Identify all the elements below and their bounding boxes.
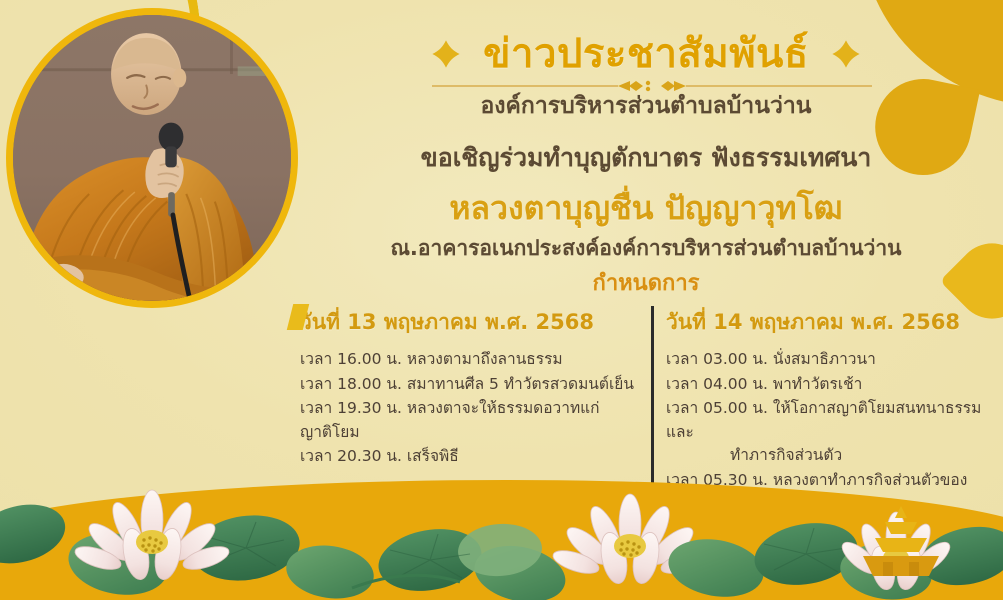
schedule-item-line: เวลา 20.30 น. เสร็จพิธี	[300, 447, 459, 465]
flower-ornament-icon	[829, 37, 863, 71]
schedule-item: เวลา 18.00 น. สมาทานศีล 5 ทำวัตรสวดมนต์เ…	[300, 373, 645, 397]
lotus-foliage-decoration	[0, 468, 1003, 600]
schedule-item-line: เวลา 19.30 น. หลวงตาจะให้ธรรมดอวาทแก่ญาต…	[300, 399, 600, 441]
schedule-item: เวลา 16.00 น. หลวงตามาถึงลานธรรม	[300, 348, 645, 372]
page-title: ข่าวประชาสัมพันธ์	[483, 34, 809, 74]
agenda-label: กำหนดการ	[306, 265, 986, 300]
schedule-item-line: เวลา 18.00 น. สมาทานศีล 5 ทำวัตรสวดมนต์เ…	[300, 375, 634, 393]
invitation-line: ขอเชิญร่วมทำบุญตักบาตร ฟังธรรมเทศนา	[306, 138, 986, 178]
day2-date-header: วันที่ 14 พฤษภาคม พ.ศ. 2568	[666, 306, 996, 339]
monk-name: หลวงตาบุญชื่น ปัญญาวุทโฒ	[306, 183, 986, 234]
day1-date-header: วันที่ 13 พฤษภาคม พ.ศ. 2568	[300, 306, 645, 339]
schedule-item: เวลา 19.30 น. หลวงตาจะให้ธรรมดอวาทแก่ญาต…	[300, 397, 645, 444]
organization-name: องค์การบริหารส่วนตำบลบ้านว่าน	[306, 88, 986, 124]
schedule-item: เวลา 05.00 น. ให้โอกาสญาติโยมสนทนาธรรมแล…	[666, 397, 996, 468]
poster-canvas: ข่าวประชาสัมพันธ์ องค์การบริหารส่วนตำบลบ…	[0, 0, 1003, 600]
venue-line: ณ.อาคารอเนกประสงค์องค์การบริหารส่วนตำบลบ…	[306, 232, 986, 265]
schedule-item: เวลา 20.30 น. เสร็จพิธี	[300, 445, 645, 469]
pagoda-icon	[855, 504, 947, 578]
schedule-item-continuation: ทำภารกิจส่วนตัว	[666, 444, 996, 468]
page-title-row: ข่าวประชาสัมพันธ์	[366, 26, 926, 82]
schedule-item: เวลา 03.00 น. นั่งสมาธิภาวนา	[666, 348, 996, 372]
schedule-item-line: เวลา 03.00 น. นั่งสมาธิภาวนา	[666, 350, 876, 368]
monk-portrait	[6, 8, 298, 308]
schedule-item-line: เวลา 05.00 น. ให้โอกาสญาติโยมสนทนาธรรมแล…	[666, 399, 981, 441]
schedule-item-line: เวลา 16.00 น. หลวงตามาถึงลานธรรม	[300, 350, 563, 368]
schedule-item-line: เวลา 04.00 น. พาทำวัตรเช้า	[666, 375, 862, 393]
monk-photo-illustration	[13, 15, 291, 301]
portrait-gold-ring	[6, 8, 298, 308]
schedule-column-day1: วันที่ 13 พฤษภาคม พ.ศ. 2568 เวลา 16.00 น…	[300, 306, 645, 470]
schedule-item: เวลา 04.00 น. พาทำวัตรเช้า	[666, 373, 996, 397]
flower-ornament-icon	[429, 37, 463, 71]
